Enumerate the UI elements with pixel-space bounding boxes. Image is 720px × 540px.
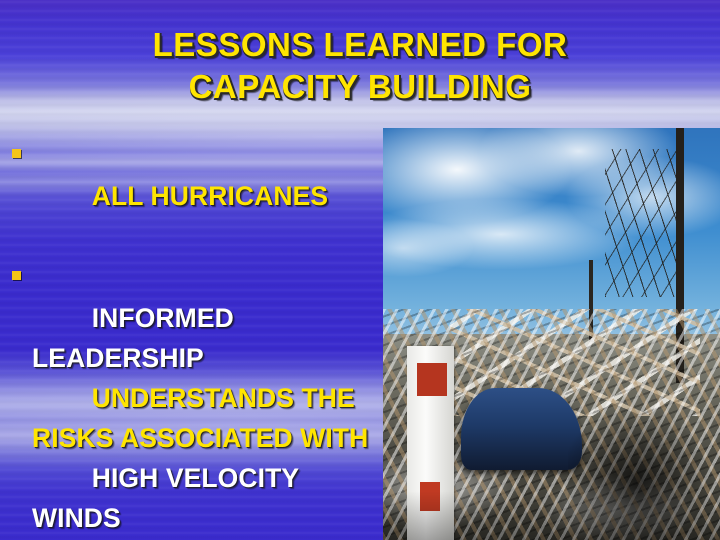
- bullet-segment: HIGH VELOCITY WINDS: [32, 463, 306, 533]
- hurricane-damage-photograph: [383, 128, 720, 540]
- square-bullet-icon: [12, 149, 21, 158]
- bullet-text: INFORMED LEADERSHIP UNDERSTANDS THE RISK…: [32, 258, 386, 540]
- photo-bottom-shading: [383, 491, 720, 540]
- presentation-slide: LESSONS LEARNED FOR CAPACITY BUILDING AL…: [0, 0, 720, 540]
- slide-title: LESSONS LEARNED FOR CAPACITY BUILDING: [40, 24, 680, 108]
- bullet-item: ALL HURRICANES: [6, 136, 386, 256]
- bullet-segment: INFORMED LEADERSHIP: [32, 303, 241, 373]
- bullet-segment: ALL HURRICANES: [92, 181, 328, 211]
- photo-gas-pump-red-panel: [417, 363, 447, 396]
- bullet-item: INFORMED LEADERSHIP UNDERSTANDS THE RISK…: [6, 258, 386, 540]
- bullet-text: ALL HURRICANES: [32, 136, 328, 256]
- square-bullet-icon: [12, 271, 21, 280]
- bullet-segment: UNDERSTANDS THE RISKS ASSOCIATED WITH: [32, 383, 383, 453]
- photo-bare-tree: [605, 149, 679, 297]
- slide-body: ALL HURRICANES INFORMED LEADERSHIP UNDER…: [6, 136, 386, 540]
- photo-damaged-car: [461, 388, 582, 470]
